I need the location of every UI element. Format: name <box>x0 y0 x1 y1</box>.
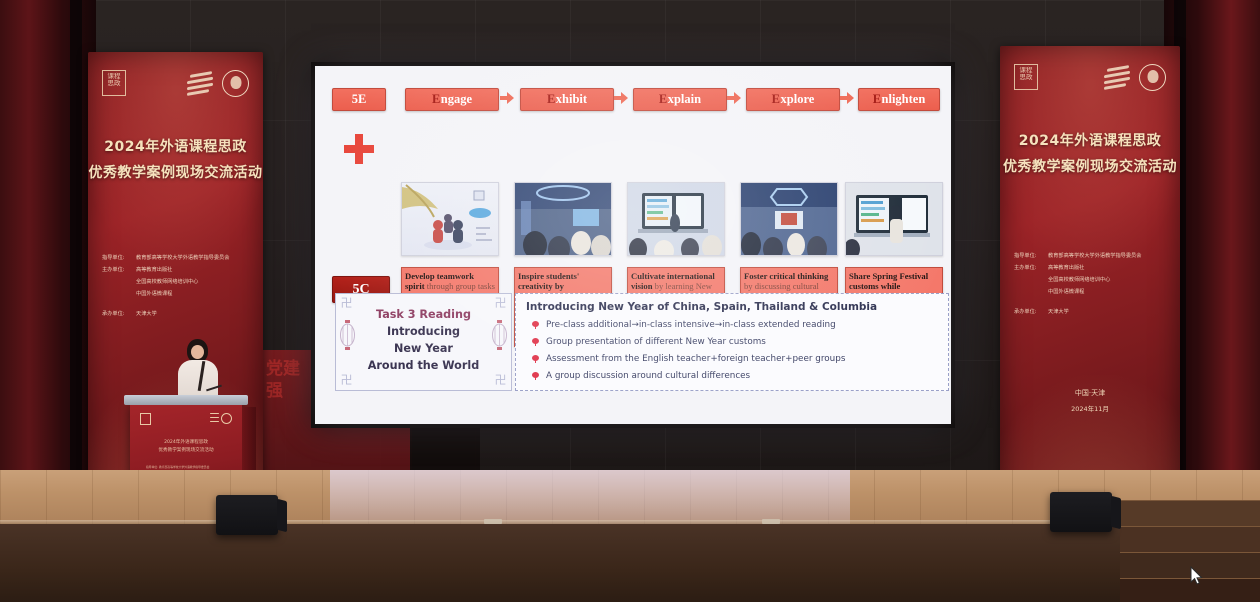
stage-floor-marker <box>762 519 780 524</box>
rear-wall-slogan: 党建强 <box>266 358 300 402</box>
competency-body-bold: Foster critical thinking <box>744 271 828 281</box>
university-emblem-icon <box>1139 64 1166 91</box>
auditorium-stage-scene: 党建强 课程思政 2024年外语课程思政 优秀教学案例现场交流活动 指导单位:教… <box>0 0 1260 602</box>
org-label-4: 承办单位: <box>1014 306 1044 318</box>
banner-title-line1: 2024年外语课程思政 <box>88 136 263 156</box>
university-emblem-icon <box>222 70 249 97</box>
banner-footer-place: 中国·天津 <box>1000 386 1180 400</box>
banner-org-list-right: 指导单位:教育部高等学校大学外语教学指导委员会 主办单位:高等教育出版社 全国高… <box>1014 250 1172 318</box>
org-value-0: 教育部高等学校大学外语教学指导委员会 <box>1048 250 1141 262</box>
slide-photo-1 <box>514 182 612 256</box>
org-value-2: 全国高校教师网络培训中心 <box>136 276 198 288</box>
stage-chip-exhibit[interactable]: Exhibit <box>520 88 614 111</box>
org-label-2 <box>1014 274 1044 286</box>
activity-item-2: Assessment from the English teacher+fore… <box>546 354 845 364</box>
org-value-1: 高等教育出版社 <box>136 264 172 276</box>
task-line-1: Task 3 Reading <box>352 306 495 323</box>
activity-item-1: Group presentation of different New Year… <box>546 337 766 347</box>
stage-steps <box>1120 500 1260 602</box>
wave-logo-icon <box>187 72 213 94</box>
org-label-1: 主办单位: <box>1014 262 1044 274</box>
podium-title-line2: 优秀教学案例现场交流活动 <box>138 447 234 455</box>
competency-body-bold: Inspire students' creativity by <box>518 271 579 291</box>
activity-item-0: Pre-class additional→in-class intensive→… <box>546 320 836 330</box>
podium-logo-icon <box>210 413 232 422</box>
org-value-3: 中国外语微课程 <box>1048 286 1084 298</box>
course-seal-icon: 课程思政 <box>1014 64 1038 90</box>
banner-title-line2: 优秀教学案例现场交流活动 <box>88 162 263 182</box>
family-newyear-illustration <box>402 183 498 255</box>
chip-rest: xplore <box>781 92 815 107</box>
task-line-3: New Year <box>352 340 495 357</box>
stage-chip-enlighten[interactable]: Enlighten <box>858 88 940 111</box>
ornament-corner-icon: 卍 <box>494 374 507 387</box>
org-label-0: 指导单位: <box>1014 250 1044 262</box>
chip-rest: xplain <box>668 92 701 107</box>
stage-front-panel <box>0 524 1260 602</box>
bullet-icon <box>532 372 539 380</box>
stage-monitor-speaker-left <box>216 495 278 535</box>
podium-seal-icon <box>140 413 151 425</box>
org-label-1: 主办单位: <box>102 264 132 276</box>
stage-chip-explore[interactable]: Explore <box>746 88 840 111</box>
org-value-1: 高等教育出版社 <box>1048 262 1084 274</box>
stage-chip-explain[interactable]: Explain <box>633 88 727 111</box>
presentation-slide[interactable]: 5E Engage Exhibit Explain Explore Enligh… <box>315 66 951 424</box>
activity-list-title: Introducing New Year of China, Spain, Th… <box>526 301 877 313</box>
banner-org-list-left: 指导单位:教育部高等学校大学外语教学指导委员会 主办单位:高等教育出版社 全国高… <box>102 252 255 320</box>
slide-photo-3 <box>740 182 838 256</box>
ornament-corner-icon: 卍 <box>340 374 353 387</box>
competency-body-dim: through group tasks <box>427 281 495 291</box>
course-seal-icon: 课程思政 <box>102 70 126 96</box>
org-value-4: 天津大学 <box>1048 306 1069 318</box>
chip-cap-letter: E <box>432 92 440 107</box>
org-label-3 <box>1014 286 1044 298</box>
org-value-4: 天津大学 <box>136 308 157 320</box>
task-reading-box[interactable]: 卍 卍 卍 卍 Task 3 Reading Introducing New Y… <box>335 293 512 391</box>
slide-photo-0 <box>401 182 499 256</box>
banner-logos-right: 课程思政 <box>1000 60 1180 94</box>
podium-title-line1: 2024年外语课程思政 <box>138 439 234 447</box>
slide-photo-4 <box>845 182 943 256</box>
stage-chip-engage[interactable]: Engage <box>405 88 499 111</box>
banner-footer-date: 2024年11月 <box>1000 402 1180 416</box>
ornament-corner-icon: 卍 <box>494 297 507 310</box>
banner-title-line2: 优秀教学案例现场交流活动 <box>1000 156 1180 176</box>
bullet-icon <box>532 338 539 346</box>
org-label-0: 指导单位: <box>102 252 132 264</box>
chip-cap-letter: E <box>659 92 667 107</box>
org-value-3: 中国外语微课程 <box>136 288 172 300</box>
classroom-group-activity-photo <box>515 183 611 255</box>
students-presentation-photo <box>741 183 837 255</box>
task-line-2: Introducing <box>352 323 495 340</box>
arrow-right-icon <box>727 92 741 104</box>
chip-rest: nlighten <box>882 92 926 107</box>
bullet-icon <box>532 321 539 329</box>
stage-curtain-left <box>0 0 96 470</box>
chip-cap-letter: E <box>772 92 780 107</box>
bullet-icon <box>532 355 539 363</box>
event-banner-right: 课程思政 2024年外语课程思政 优秀教学案例现场交流活动 指导单位:教育部高等… <box>1000 46 1180 516</box>
task-line-4: Around the World <box>352 357 495 374</box>
org-label-4: 承办单位: <box>102 308 132 320</box>
plus-icon <box>342 132 376 166</box>
activity-item-3: A group discussion around cultural diffe… <box>546 371 750 381</box>
chip-rest: xhibit <box>556 92 587 107</box>
banner-logos-left: 课程思政 <box>88 66 263 100</box>
arrow-right-icon <box>614 92 628 104</box>
teacher-explaining-board-photo <box>846 183 942 255</box>
slide-photo-2 <box>627 182 725 256</box>
org-label-2 <box>102 276 132 288</box>
arrow-right-icon <box>500 92 514 104</box>
activity-list-box[interactable]: Introducing New Year of China, Spain, Th… <box>515 293 949 391</box>
chip-cap-letter: E <box>547 92 555 107</box>
podium-title: 2024年外语课程思政 优秀教学案例现场交流活动 <box>138 439 234 455</box>
banner-title-line1: 2024年外语课程思政 <box>1000 130 1180 150</box>
arrow-right-icon <box>840 92 854 104</box>
org-value-0: 教育部高等学校大学外语教学指导委员会 <box>136 252 229 264</box>
chip-cap-letter: E <box>873 92 881 107</box>
org-value-2: 全国高校教师网络培训中心 <box>1048 274 1110 286</box>
stage-label-5e: 5E <box>332 88 386 111</box>
chip-rest: ngage <box>441 92 472 107</box>
teacher-smartboard-photo <box>628 183 724 255</box>
stage-monitor-speaker-right <box>1050 492 1112 532</box>
org-label-3 <box>102 288 132 300</box>
stage-floor-marker <box>484 519 502 524</box>
mouse-cursor <box>1190 566 1203 585</box>
task-box-text: Task 3 Reading Introducing New Year Arou… <box>352 306 495 374</box>
wave-logo-icon <box>1104 66 1130 88</box>
